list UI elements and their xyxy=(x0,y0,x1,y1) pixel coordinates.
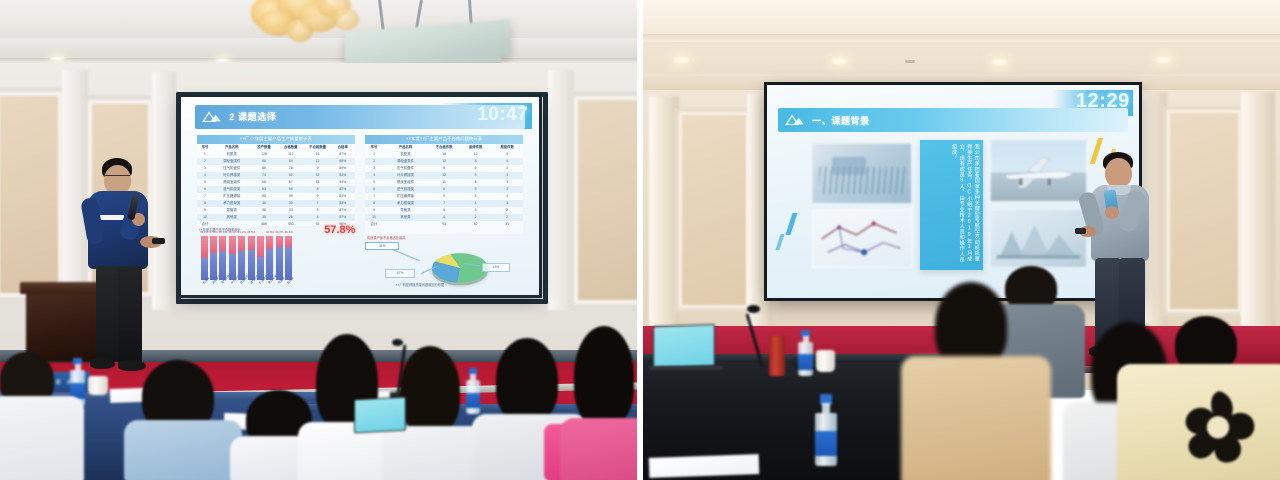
table-cell: 进气机匣类 xyxy=(213,186,251,193)
table-cell: 9 xyxy=(365,207,382,214)
table-1-column-row: 序号产品名称投产数量合格数量不合格数量合格率 xyxy=(197,144,355,151)
table-cell: 55 xyxy=(277,186,304,193)
table-cell: 承力框架类 xyxy=(213,200,251,207)
bar-value-label: 47.8% xyxy=(209,230,217,234)
table-cell: 58 xyxy=(251,193,278,200)
table-cell: 9 xyxy=(428,165,460,172)
table-cell: 导管类 xyxy=(383,207,429,214)
table-cell: 12 xyxy=(428,172,460,179)
right-presentation-photo: 一、课题背景 12:29 xyxy=(643,0,1280,480)
table-cell: 2 xyxy=(197,158,213,165)
table-cell: 96 xyxy=(251,158,278,165)
table-row: 3压气机盘件8576989% xyxy=(197,165,355,172)
slide-clock: 10:47 xyxy=(477,104,528,126)
table-row: 2涡轮盘类件96841288% xyxy=(197,158,355,165)
table-cell: 3 xyxy=(491,172,523,179)
audience-member-l1 xyxy=(0,352,80,480)
pie-callout-1: 31% xyxy=(365,242,399,251)
table-cell: 12 xyxy=(428,158,460,165)
bar-segment-top xyxy=(257,236,264,257)
table-cell: 燃烧室组件 xyxy=(383,179,429,186)
table-cell: 8 xyxy=(304,186,331,193)
table-cell: 11 xyxy=(304,179,331,186)
table-cell: 合计 xyxy=(365,221,382,228)
table-cell: 68 xyxy=(251,179,278,186)
table-row: 1机匣类1281121687% xyxy=(197,151,355,158)
table-cell: 12 xyxy=(304,158,331,165)
table-cell: 128 xyxy=(251,151,278,158)
table-column-header: 不合格件数 xyxy=(428,144,460,151)
table-row: 合计936231 xyxy=(365,221,523,228)
table-cell: 4 xyxy=(365,172,382,179)
table-cell: 3 xyxy=(491,200,523,207)
bar-value-label: 44.1% xyxy=(238,230,246,234)
bar-chart-bar: 44.1%燃烧室组件 xyxy=(238,236,245,280)
pie-disc xyxy=(432,253,488,283)
bar-chart-bar: 47.8%涡轮盘类件 xyxy=(210,236,217,280)
table-cell: 9 xyxy=(460,172,492,179)
accent-slash-blue-1 xyxy=(786,213,798,235)
table-cell: 16 xyxy=(304,151,331,158)
factory-photo xyxy=(812,143,912,205)
water-bottle-r2 xyxy=(815,394,837,466)
table-row: 4叶片焊接类74621284% xyxy=(197,172,355,179)
right-presenter-clicker xyxy=(1075,228,1086,234)
right-presenter-head xyxy=(1105,158,1132,188)
left-presentation-photo: 2 课题选择 10:47 ××厂××年度主要产品生产质量统计表 序号产品名称投产… xyxy=(0,0,637,480)
bar-segment-top xyxy=(285,236,292,247)
table-cell: 1 xyxy=(197,151,213,158)
table-cell: 燃烧室组件 xyxy=(213,179,251,186)
left-slide: 2 课题选择 10:47 ××厂××年度主要产品生产质量统计表 序号产品名称投产… xyxy=(181,97,539,295)
table-cell: 压气机盘件 xyxy=(213,165,251,172)
table-column-header: 产品名称 xyxy=(213,144,251,151)
table-cell: 2 xyxy=(491,214,523,221)
table-cell: 11 xyxy=(428,179,460,186)
right-wall-panel-1 xyxy=(679,112,749,308)
presenter-shoe-left xyxy=(90,358,115,369)
table-row: 9导管类532 xyxy=(365,207,523,214)
table-cell: 3 xyxy=(460,207,492,214)
bar-chart-bar: 49.3%叶片焊接类 xyxy=(229,236,236,280)
table-cell: 76 xyxy=(277,165,304,172)
process-diagram xyxy=(812,209,912,269)
table-cell: 8 xyxy=(460,179,492,186)
table-cell: 16 xyxy=(428,151,460,158)
table-column-header: 序号 xyxy=(197,144,213,151)
ceiling-downlight-left xyxy=(50,56,65,61)
bar-chart-bar: 43.5%进气机匣类 xyxy=(248,236,255,280)
left-slide-table-1: ××厂××年度主要产品生产质量统计表 序号产品名称投产数量合格数量不合格数量合格… xyxy=(197,135,355,226)
table-row: 10其他类3026487% xyxy=(197,214,355,221)
bar-segment-top xyxy=(219,236,226,252)
bar-chart-bar: 40.8%承力框架类 xyxy=(266,236,273,280)
table-cell: 10 xyxy=(197,214,213,221)
table-cell: 机匣类 xyxy=(383,151,429,158)
table-cell: 26 xyxy=(277,214,304,221)
table-cell: 3 xyxy=(491,186,523,193)
table-cell: 扩压器焊接 xyxy=(383,193,429,200)
table-cell: 扩压器焊接 xyxy=(213,193,251,200)
aircraft-photo xyxy=(990,140,1087,202)
bar-value-label: 45.6% xyxy=(219,230,227,234)
table-cell: 1 xyxy=(365,151,382,158)
table-cell: 进气机匣类 xyxy=(383,186,429,193)
red-thermos xyxy=(769,336,785,376)
bar-chart-bar: 45.6%压气机盘件 xyxy=(219,236,226,280)
table-cell: 63 xyxy=(251,186,278,193)
table-cell: 30 xyxy=(251,214,278,221)
left-presenter xyxy=(76,158,172,373)
bar-segment-top xyxy=(210,236,217,254)
bar-segment-bottom xyxy=(248,250,255,279)
right-wall-panel-2 xyxy=(1167,110,1241,312)
table-cell: 6 xyxy=(365,186,382,193)
audience-member-r4 xyxy=(1123,316,1280,480)
bar-segment-top xyxy=(276,236,283,248)
table-cell: 87% xyxy=(331,214,355,221)
table-cell: 其他类 xyxy=(213,214,251,221)
table-cell: 62 xyxy=(460,221,492,228)
audience-member-l2 xyxy=(128,360,238,480)
table-cell: 4 xyxy=(491,158,523,165)
pie-callout-2: 57% xyxy=(385,269,415,278)
table-cell: 其他类 xyxy=(383,214,429,221)
table-row: 8承力框架类743 xyxy=(365,200,523,207)
right-slide-title: 一、课题背景 xyxy=(812,114,870,127)
wall-panel-far-left xyxy=(0,92,62,297)
right-wall-column-4 xyxy=(1241,92,1275,332)
bar-segment-top xyxy=(266,236,273,250)
table-row: 4叶片焊接类1293 xyxy=(365,172,523,179)
table-2-header-text: ××年度××厂主要产品不合格问题统计表 xyxy=(365,135,523,144)
table-cell: 5 xyxy=(460,186,492,193)
pie-callout-3-text: 12% xyxy=(492,265,499,269)
accent-slash-blue-2 xyxy=(776,234,785,250)
paper-sheet-right xyxy=(649,454,760,478)
bar-chart-bar: 57.8%扩压器焊接 xyxy=(257,236,264,280)
table-cell: 4 xyxy=(428,214,460,221)
bar-value-label: 38.2% xyxy=(275,230,283,234)
audience-laptop-left xyxy=(354,397,406,434)
table-cell: 593 xyxy=(277,221,304,228)
right-downlight-3 xyxy=(991,58,1008,66)
right-ceiling-cove xyxy=(643,0,1280,36)
bar-chart-bar: 38.2%导管类 xyxy=(276,236,283,280)
table-cell: 88% xyxy=(331,158,355,165)
presenter-laptop xyxy=(653,324,715,368)
table-cell: 8 xyxy=(197,200,213,207)
right-downlight-4 xyxy=(1155,56,1172,64)
mountain-logo xyxy=(784,113,806,127)
table-cell: 85 xyxy=(251,165,278,172)
slide-header: 2 课题选择 xyxy=(195,105,524,129)
bar-chart-bar: 54.2%机匣类 xyxy=(201,236,208,280)
table-column-header: 产品名称 xyxy=(383,144,429,151)
right-slide-clock: 12:29 xyxy=(1076,90,1130,113)
right-downlight-2 xyxy=(831,57,848,65)
table-row: 7扩压器焊接954 xyxy=(365,193,523,200)
table-cell: 89% xyxy=(331,165,355,172)
bar-segment-top xyxy=(201,236,208,259)
table-cell: 46 xyxy=(251,200,278,207)
mountain-logo xyxy=(201,110,223,124)
table-cell: 2 xyxy=(365,158,382,165)
bar-chart-bar: 36.4%其他类 xyxy=(285,236,292,280)
table-cell: 93 xyxy=(428,221,460,228)
table-row: 5燃烧室组件1183 xyxy=(365,179,523,186)
table-row: 2涡轮盘类件1284 xyxy=(365,158,523,165)
table-column-header: 投产数量 xyxy=(251,144,278,151)
bar-chart: 54.2%机匣类47.8%涡轮盘类件45.6%压气机盘件49.3%叶片焊接类44… xyxy=(201,236,293,280)
table-cell: 叶片焊接类 xyxy=(383,172,429,179)
pie-callout-1-text: 31% xyxy=(379,244,386,248)
table-cell: 3 xyxy=(491,179,523,186)
table-cell: 叶片焊接类 xyxy=(213,172,251,179)
slide-body-textbox: 我公司承担着国家多种关键型号航空发动机机匣焊接生产任务，QC小组于2019年1月… xyxy=(920,140,983,270)
bar-value-label: 40.8% xyxy=(266,230,274,234)
table-cell: 导管类 xyxy=(213,207,251,214)
table-cell: 4 xyxy=(491,151,523,158)
table-2-column-row: 序号产品名称不合格件数返修件数报废件数 xyxy=(365,144,523,151)
table-cell: 5 xyxy=(460,193,492,200)
table-cell: 62 xyxy=(277,172,304,179)
bar-segment-top xyxy=(238,236,245,251)
table-cell: 84 xyxy=(277,158,304,165)
table-cell: 39 xyxy=(277,200,304,207)
left-conference-room: 2 课题选择 10:47 ××厂××年度主要产品生产质量统计表 序号产品名称投产… xyxy=(0,0,637,480)
tshirt-graphic xyxy=(1175,384,1261,474)
table-cell: 5 xyxy=(428,207,460,214)
slide-title: 2 课题选择 xyxy=(229,110,276,123)
bar-value-label: 49.3% xyxy=(228,230,236,234)
bar-segment-top xyxy=(229,236,236,254)
pie-chart-title: ××厂机匣焊接质量问题原因分布图 xyxy=(396,282,444,287)
table-microphone-right xyxy=(761,310,765,368)
right-wall-column-1 xyxy=(649,96,679,326)
bar-value-label: 36.4% xyxy=(285,230,293,234)
table-row: 7扩压器焊接5849984% xyxy=(197,193,355,200)
table-cell: 压气机盘件 xyxy=(383,165,429,172)
table-cell: 3 xyxy=(365,165,382,172)
table-cell: 85% xyxy=(331,200,355,207)
table-cell: 8 xyxy=(460,158,492,165)
presenter-glasses xyxy=(105,175,130,180)
table-cell: 涡轮盘类件 xyxy=(213,158,251,165)
table-cell: 4 xyxy=(197,172,213,179)
table-cell: 4 xyxy=(460,200,492,207)
projection-screen: 2 课题选择 10:47 ××厂××年度主要产品生产质量统计表 序号产品名称投产… xyxy=(181,97,539,295)
bar-segment-bottom xyxy=(285,247,292,280)
table-cell: 9 xyxy=(428,193,460,200)
table-cell: 12 xyxy=(460,151,492,158)
table-cell: 84% xyxy=(331,179,355,186)
table-cell: 5 xyxy=(365,179,382,186)
wall-pillar-3 xyxy=(548,70,574,310)
table-cell: 57 xyxy=(277,179,304,186)
table-cell: 87% xyxy=(331,186,355,193)
table-cell: 7 xyxy=(365,193,382,200)
audience-member-l7 xyxy=(566,326,637,480)
table-cell: 5 xyxy=(197,179,213,186)
table-cell: 2 xyxy=(491,207,523,214)
table-cell: 3 xyxy=(197,165,213,172)
table-cell: 机匣类 xyxy=(213,151,251,158)
presenter-leg-right xyxy=(118,266,142,364)
table-row: 1机匣类16124 xyxy=(365,151,523,158)
table-row: 6进气机匣类6355887% xyxy=(197,186,355,193)
table-cell: 4 xyxy=(491,193,523,200)
table-cell: 9 xyxy=(197,207,213,214)
table-row: 3压气机盘件963 xyxy=(365,165,523,172)
tea-cup xyxy=(88,376,108,395)
table-cell: 686 xyxy=(251,221,278,228)
table-cell: 7 xyxy=(304,200,331,207)
bar-highlight-value: 57.8% xyxy=(324,224,355,236)
bar-segment-bottom xyxy=(276,247,283,279)
table-cell: 74 xyxy=(251,172,278,179)
table-row: 8承力框架类4639785% xyxy=(197,200,355,207)
table-cell: 31 xyxy=(491,221,523,228)
table-cell: 7 xyxy=(428,200,460,207)
table-cell: 10 xyxy=(365,214,382,221)
pie-callout-3: 12% xyxy=(482,263,510,272)
table-cell: 49 xyxy=(277,193,304,200)
table-column-header: 序号 xyxy=(365,144,382,151)
table-cell: 6 xyxy=(197,186,213,193)
table-cell: 9 xyxy=(304,165,331,172)
table-cell: 涡轮盘类件 xyxy=(383,158,429,165)
bar-value-label: 43.5% xyxy=(247,230,255,234)
water-bottle-r1 xyxy=(798,330,813,376)
left-slide-table-2: ××年度××厂主要产品不合格问题统计表 序号产品名称不合格件数返修件数报废件数 … xyxy=(365,135,523,234)
table-cell: 38 xyxy=(251,207,278,214)
table-column-header: 合格数量 xyxy=(277,144,304,151)
table-row: 6进气机匣类853 xyxy=(365,186,523,193)
table-cell: 12 xyxy=(304,172,331,179)
wall-panel-3 xyxy=(574,96,637,304)
table-cell: 4 xyxy=(304,214,331,221)
bar-segment-top xyxy=(248,236,255,251)
table-column-header: 返修件数 xyxy=(460,144,492,151)
right-downlight-1 xyxy=(673,56,690,64)
table-cell: 5 xyxy=(304,207,331,214)
table-cell: 84% xyxy=(331,172,355,179)
presenter-clicker xyxy=(152,238,165,244)
table-cell: 87% xyxy=(331,207,355,214)
table-row: 9导管类3833587% xyxy=(197,207,355,214)
table-cell: 87% xyxy=(331,151,355,158)
table-column-header: 报废件数 xyxy=(491,144,523,151)
table-cell: 6 xyxy=(460,165,492,172)
pie-callout-2-text: 57% xyxy=(397,271,404,275)
table-cell: 承力框架类 xyxy=(383,200,429,207)
table-row: 10其他类422 xyxy=(365,214,523,221)
table-cell: 84% xyxy=(331,193,355,200)
audience-member-r2 xyxy=(915,282,1035,480)
table-cell: 9 xyxy=(304,193,331,200)
table-cell: 8 xyxy=(365,200,382,207)
ceiling-smoke-detector xyxy=(905,60,915,63)
table-column-header: 合格率 xyxy=(331,144,355,151)
presenter-leg-left xyxy=(96,266,120,362)
presenter-badge xyxy=(98,215,124,220)
right-ceiling-rim xyxy=(643,34,1280,42)
coffee-cup-right xyxy=(816,350,835,372)
right-presenter-hand-mic xyxy=(1105,206,1119,219)
table-column-header: 不合格数量 xyxy=(304,144,331,151)
component-drawing xyxy=(990,209,1087,269)
bar-value-label: 54.2% xyxy=(200,230,208,234)
table-cell: 112 xyxy=(277,151,304,158)
table-1-header-text: ××厂××年度主要产品生产质量统计表 xyxy=(197,135,355,144)
table-cell: 7 xyxy=(197,193,213,200)
table-cell: 2 xyxy=(460,214,492,221)
table-row: 5燃烧室组件68571184% xyxy=(197,179,355,186)
table-cell: 33 xyxy=(277,207,304,214)
screenshot-root: 2 课题选择 10:47 ××厂××年度主要产品生产质量统计表 序号产品名称投产… xyxy=(0,0,1280,480)
presenter-laptop-base xyxy=(649,366,723,372)
right-conference-room: 一、课题背景 12:29 xyxy=(643,0,1280,480)
table-cell: 8 xyxy=(428,186,460,193)
table-cell: 3 xyxy=(491,165,523,172)
